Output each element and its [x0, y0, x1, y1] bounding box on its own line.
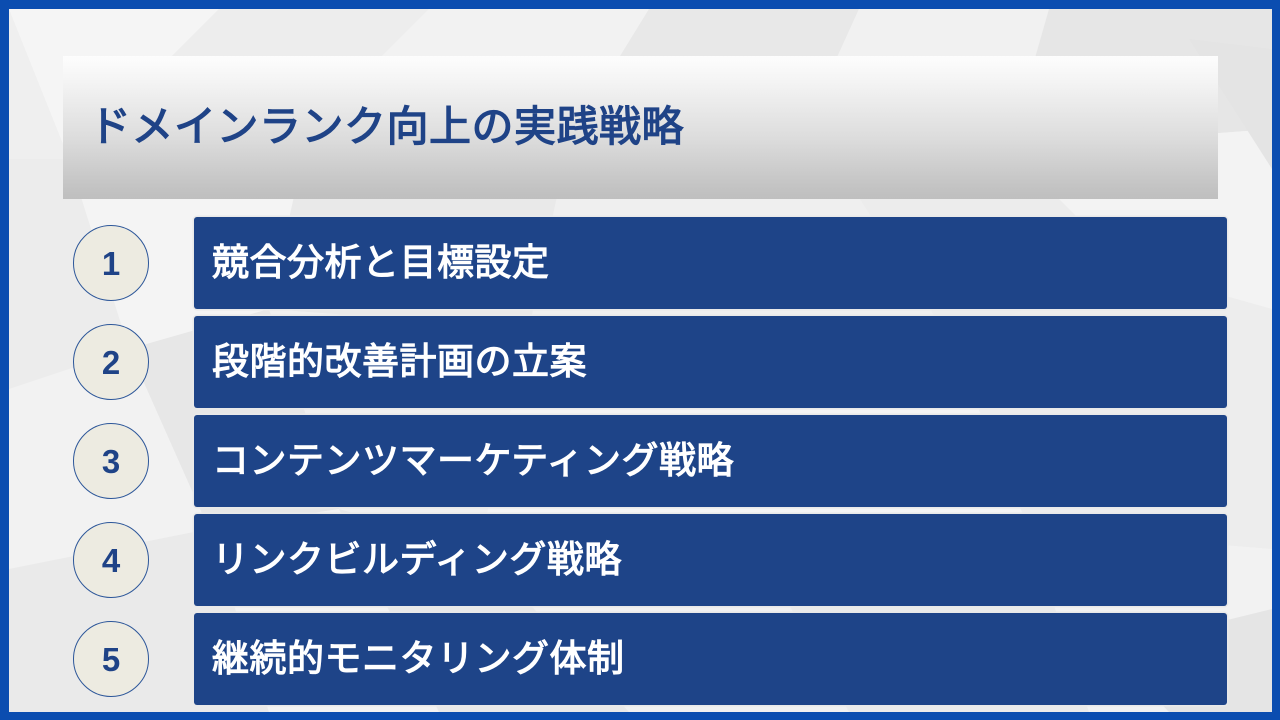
slide-canvas: ドメインランク向上の実践戦略 1 競合分析と目標設定 2 段階的改善計画の立案 — [9, 9, 1272, 712]
step-bar[interactable]: コンテンツマーケティング戦略 — [194, 415, 1227, 507]
page-title: ドメインランク向上の実践戦略 — [89, 104, 684, 150]
step-number-badge: 5 — [73, 621, 149, 697]
list-item[interactable]: 4 リンクビルディング戦略 — [9, 511, 1272, 609]
slide-title-bar: ドメインランク向上の実践戦略 — [63, 56, 1218, 199]
list-item[interactable]: 2 段階的改善計画の立案 — [9, 313, 1272, 411]
step-label: 競合分析と目標設定 — [212, 244, 550, 283]
step-bar[interactable]: リンクビルディング戦略 — [194, 514, 1227, 606]
step-bar[interactable]: 競合分析と目標設定 — [194, 217, 1227, 309]
step-number-badge: 1 — [73, 225, 149, 301]
step-bar[interactable]: 継続的モニタリング体制 — [194, 613, 1227, 705]
step-number-label: 3 — [102, 445, 120, 478]
step-number-badge: 3 — [73, 423, 149, 499]
presentation-slide: ドメインランク向上の実践戦略 1 競合分析と目標設定 2 段階的改善計画の立案 — [0, 0, 1280, 720]
numbered-step-list: 1 競合分析と目標設定 2 段階的改善計画の立案 3 コンテ — [9, 214, 1272, 709]
step-number-label: 4 — [102, 544, 120, 577]
step-bar[interactable]: 段階的改善計画の立案 — [194, 316, 1227, 408]
step-number-label: 2 — [102, 346, 120, 379]
step-label: 段階的改善計画の立案 — [212, 343, 587, 382]
step-label: コンテンツマーケティング戦略 — [212, 442, 734, 481]
list-item[interactable]: 5 継続的モニタリング体制 — [9, 610, 1272, 708]
step-number-label: 1 — [102, 247, 120, 280]
step-number-badge: 2 — [73, 324, 149, 400]
list-item[interactable]: 1 競合分析と目標設定 — [9, 214, 1272, 312]
step-number-label: 5 — [102, 643, 120, 676]
list-item[interactable]: 3 コンテンツマーケティング戦略 — [9, 412, 1272, 510]
step-label: リンクビルディング戦略 — [212, 541, 622, 580]
step-label: 継続的モニタリング体制 — [212, 640, 625, 679]
step-number-badge: 4 — [73, 522, 149, 598]
